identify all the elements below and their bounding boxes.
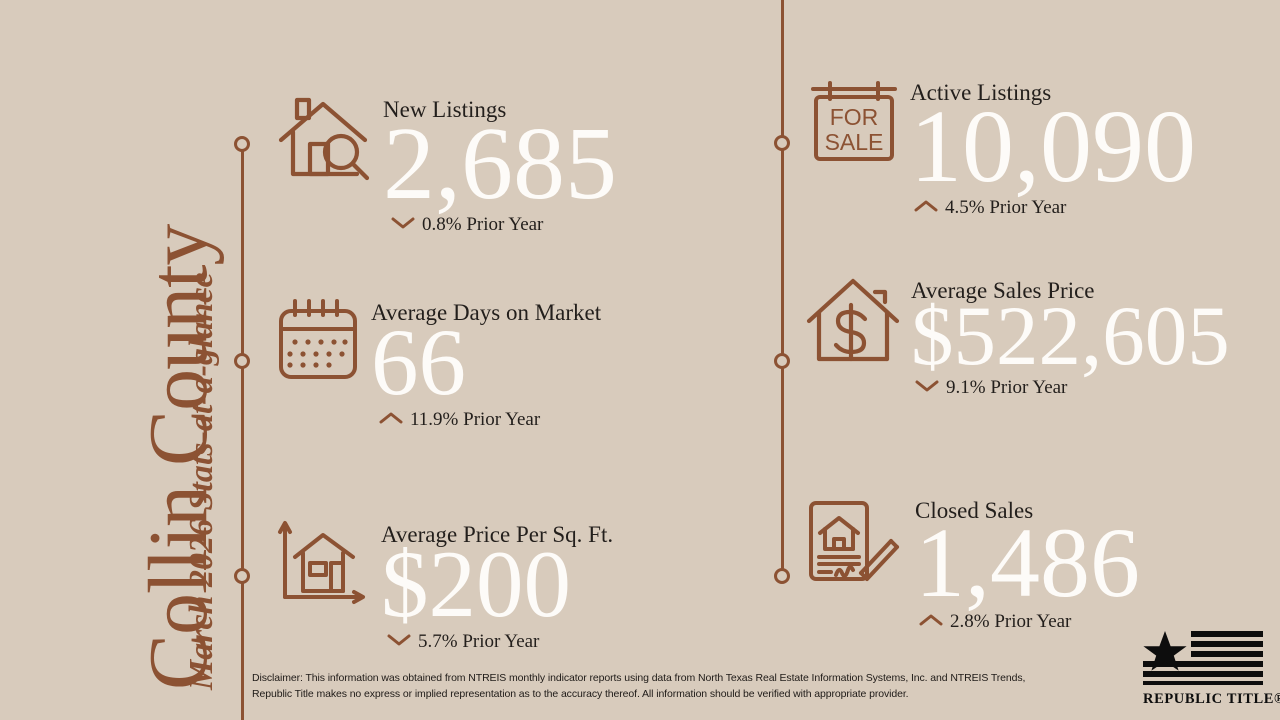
calendar-icon bbox=[277, 297, 359, 386]
stat-body: New Listings 2,685 0.8% Prior Year bbox=[383, 94, 617, 236]
chevron-up-icon bbox=[919, 611, 943, 633]
stat-price-sqft: Average Price Per Sq. Ft. $200 5.7% Prio… bbox=[277, 519, 613, 653]
chevron-down-icon bbox=[915, 377, 939, 399]
infographic-canvas: Collin County March 2026 Stats-at-a-glan… bbox=[0, 0, 1280, 720]
stat-delta: 5.7% Prior Year bbox=[387, 631, 539, 653]
page-subtitle: March 2026 Stats-at-a-glance bbox=[183, 273, 221, 690]
stat-body: Average Days on Market 66 11.9% Prior Ye… bbox=[371, 297, 601, 431]
stat-delta-text: 9.1% Prior Year bbox=[946, 377, 1067, 399]
republic-title-flag-logo bbox=[1143, 629, 1263, 690]
stat-value: 66 bbox=[371, 319, 466, 406]
timeline-node-days-on-market bbox=[234, 353, 250, 369]
timeline-node-active-listings bbox=[774, 135, 790, 151]
timeline-node-avg-sales-price bbox=[774, 353, 790, 369]
stat-body: Average Sales Price $522,605 9.1% Prior … bbox=[911, 275, 1230, 399]
stat-avg-sales-price: Average Sales Price $522,605 9.1% Prior … bbox=[805, 275, 1230, 399]
stat-delta: 0.8% Prior Year bbox=[391, 214, 543, 236]
stat-delta: 2.8% Prior Year bbox=[919, 611, 1071, 633]
house-dollar-icon bbox=[805, 275, 901, 372]
stat-delta-text: 2.8% Prior Year bbox=[950, 611, 1071, 633]
timeline-node-new-listings bbox=[234, 136, 250, 152]
timeline-right-line bbox=[781, 0, 784, 576]
stat-value: 1,486 bbox=[915, 517, 1140, 609]
for-sale-sign-icon: FOR SALE bbox=[808, 77, 900, 174]
stat-body: Active Listings 10,090 4.5% Prior Year bbox=[910, 77, 1196, 219]
house-magnifier-icon bbox=[277, 94, 371, 191]
stat-value: 2,685 bbox=[383, 116, 617, 212]
stat-delta: 4.5% Prior Year bbox=[914, 197, 1066, 219]
stat-delta-text: 5.7% Prior Year bbox=[418, 631, 539, 653]
stat-delta-text: 0.8% Prior Year bbox=[422, 214, 543, 236]
contract-pen-icon bbox=[805, 495, 905, 592]
disclaimer-text: Disclaimer: This information was obtaine… bbox=[252, 670, 1052, 703]
stat-delta-text: 4.5% Prior Year bbox=[945, 197, 1066, 219]
republic-title-logo: REPUBLIC TITLE® bbox=[1143, 629, 1263, 708]
chevron-up-icon bbox=[914, 197, 938, 219]
timeline-left-line bbox=[241, 144, 244, 720]
title-block: Collin County March 2026 Stats-at-a-glan… bbox=[0, 0, 215, 720]
house-chart-axes-icon bbox=[277, 519, 369, 612]
stat-days-on-market: Average Days on Market 66 11.9% Prior Ye… bbox=[277, 297, 601, 431]
timeline-node-price-sqft bbox=[234, 568, 250, 584]
stat-closed-sales: Closed Sales 1,486 2.8% Prior Year bbox=[805, 495, 1140, 633]
stat-active-listings: FOR SALE Active Listings 10,090 4.5% Pri… bbox=[808, 77, 1196, 219]
stat-delta: 11.9% Prior Year bbox=[379, 409, 540, 431]
for-sale-line-2: SALE bbox=[825, 129, 884, 155]
stat-body: Average Price Per Sq. Ft. $200 5.7% Prio… bbox=[381, 519, 613, 653]
stat-value: 10,090 bbox=[910, 99, 1196, 195]
for-sale-line-1: FOR bbox=[830, 104, 879, 130]
republic-title-wordmark: REPUBLIC TITLE® bbox=[1143, 691, 1263, 708]
stat-delta-text: 11.9% Prior Year bbox=[410, 409, 540, 431]
chevron-up-icon bbox=[379, 409, 403, 431]
chevron-down-icon bbox=[391, 214, 415, 236]
stat-body: Closed Sales 1,486 2.8% Prior Year bbox=[915, 495, 1140, 633]
stat-new-listings: New Listings 2,685 0.8% Prior Year bbox=[277, 94, 617, 236]
stat-value: $200 bbox=[381, 541, 571, 628]
timeline-node-closed-sales bbox=[774, 568, 790, 584]
stat-value: $522,605 bbox=[911, 297, 1230, 375]
chevron-down-icon bbox=[387, 631, 411, 653]
stat-delta: 9.1% Prior Year bbox=[915, 377, 1067, 399]
